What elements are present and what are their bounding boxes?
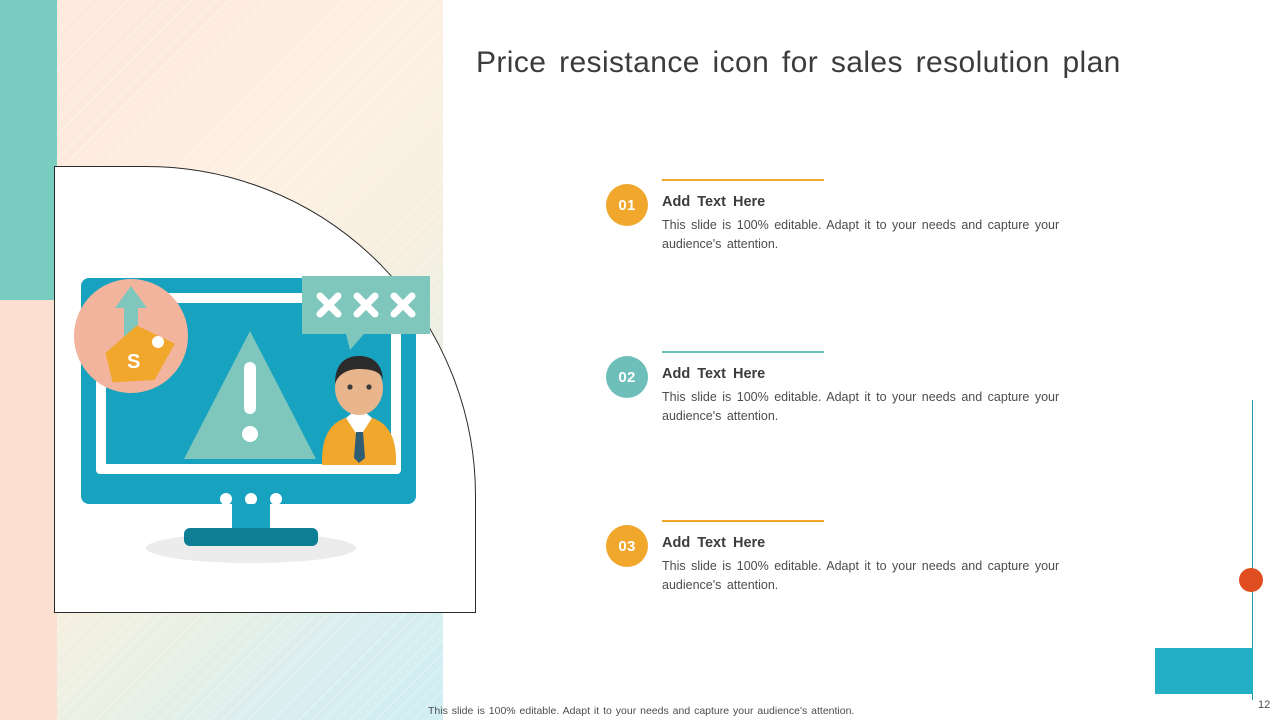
item-body-text: This slide is 100% editable. Adapt it to… xyxy=(662,388,1110,425)
teal-rect-accent xyxy=(1155,648,1253,694)
item-divider xyxy=(662,520,824,522)
price-resistance-illustration: S xyxy=(54,166,476,613)
list-item: 01 Add Text Here This slide is 100% edit… xyxy=(606,176,1126,266)
red-dot-accent xyxy=(1239,568,1263,592)
teal-accent-block xyxy=(0,0,57,300)
page-number: 12 xyxy=(1258,699,1270,711)
page-title: Price resistance icon for sales resoluti… xyxy=(476,42,1266,84)
item-heading: Add Text Here xyxy=(662,366,765,382)
slide-canvas: S Price resistance icon for sales resolu… xyxy=(0,0,1280,720)
list-item: 02 Add Text Here This slide is 100% edit… xyxy=(606,348,1126,438)
peach-accent-block xyxy=(0,300,57,720)
price-tag-icon: S xyxy=(74,279,188,393)
list-item: 03 Add Text Here This slide is 100% edit… xyxy=(606,517,1126,607)
item-number-badge: 02 xyxy=(606,356,648,398)
item-number-badge: 01 xyxy=(606,184,648,226)
item-heading: Add Text Here xyxy=(662,535,765,551)
item-divider xyxy=(662,179,824,181)
item-heading: Add Text Here xyxy=(662,194,765,210)
svg-text:S: S xyxy=(127,351,140,373)
footer-note: This slide is 100% editable. Adapt it to… xyxy=(428,705,854,717)
item-body-text: This slide is 100% editable. Adapt it to… xyxy=(662,557,1110,594)
item-body-text: This slide is 100% editable. Adapt it to… xyxy=(662,216,1110,253)
item-divider xyxy=(662,351,824,353)
item-number-badge: 03 xyxy=(606,525,648,567)
